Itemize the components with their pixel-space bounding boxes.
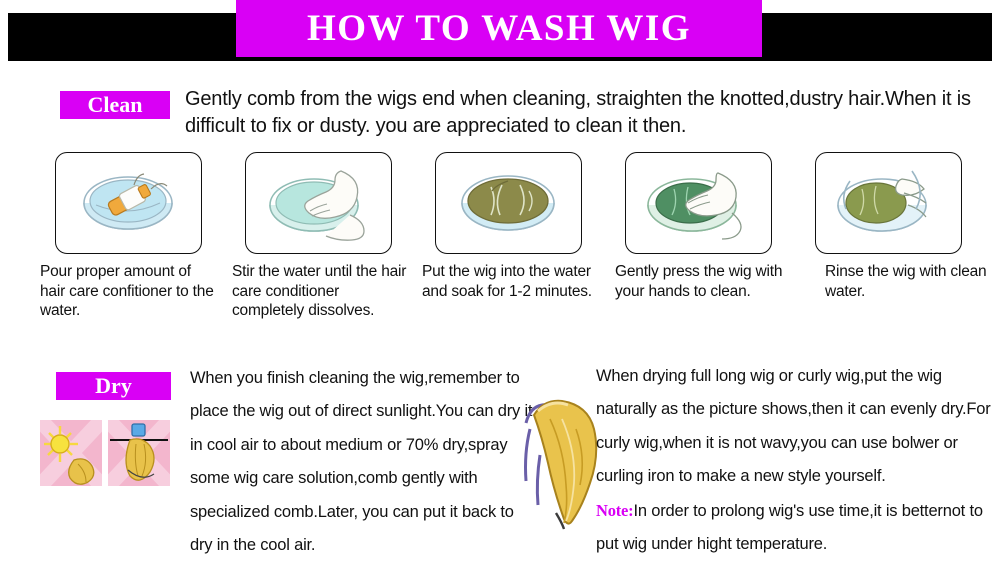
clean-step-panels <box>55 152 990 252</box>
step-panel-3 <box>435 152 582 254</box>
bowl-pour-conditioner-icon <box>56 153 201 253</box>
step-panel-4 <box>625 152 772 254</box>
dry-icon-tiles <box>40 420 170 486</box>
sun-air-dry-wig-icon <box>40 420 102 486</box>
dry-right-paragraph: When drying full long wig or curly wig,p… <box>596 360 996 562</box>
step-caption-3: Put the wig into the water and soak for … <box>422 262 597 301</box>
page-title: HOW TO WASH WIG <box>307 10 691 47</box>
header-magenta-band: HOW TO WASH WIG <box>236 0 762 57</box>
note-label: Note: <box>596 501 633 520</box>
dry-right-text: When drying full long wig or curly wig,p… <box>596 360 996 494</box>
bowl-rinse-wig-icon <box>816 153 961 253</box>
bowl-wig-soaking-icon <box>436 153 581 253</box>
clean-badge: Clean <box>60 91 170 119</box>
step-caption-5: Rinse the wig with clean water. <box>825 262 1000 301</box>
dry-left-text: When you finish cleaning the wig,remembe… <box>190 362 535 563</box>
bowl-press-wig-hand-icon <box>626 153 771 253</box>
step-panel-1 <box>55 152 202 254</box>
dry-note: Note:In order to prolong wig's use time,… <box>596 494 996 562</box>
clean-description: Gently comb from the wigs end when clean… <box>185 86 985 140</box>
note-text: In order to prolong wig's use time,it is… <box>596 502 983 553</box>
bowl-stir-hand-icon <box>246 153 391 253</box>
step-panel-2 <box>245 152 392 254</box>
clean-step-captions: Pour proper amount of hair care confitio… <box>40 262 990 327</box>
dry-left-paragraph: When you finish cleaning the wig,remembe… <box>190 362 535 563</box>
step-caption-4: Gently press the wig with your hands to … <box>615 262 810 301</box>
dry-badge-label: Dry <box>95 373 132 399</box>
step-panel-5 <box>815 152 962 254</box>
clean-badge-label: Clean <box>88 92 143 118</box>
step-caption-2: Stir the water until the hair care condi… <box>232 262 412 321</box>
step-caption-1: Pour proper amount of hair care confitio… <box>40 262 215 321</box>
dry-badge: Dry <box>56 372 171 400</box>
page-header: HOW TO WASH WIG <box>0 0 1000 66</box>
hanging-wig-clip-icon <box>108 420 170 486</box>
